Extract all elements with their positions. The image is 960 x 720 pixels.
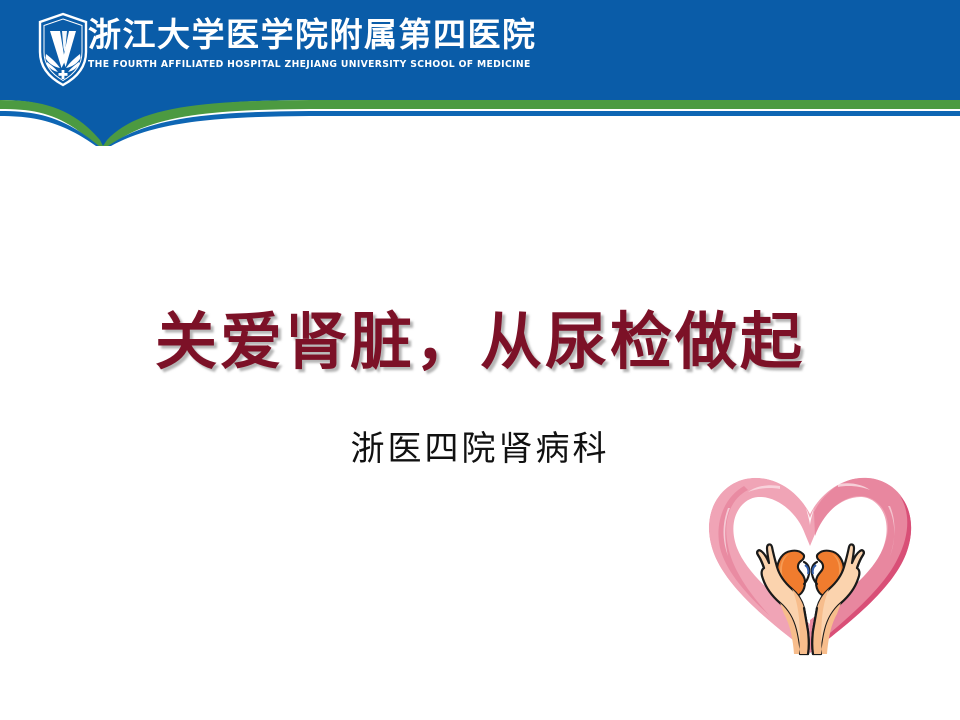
heart-hands-kidneys-illustration bbox=[688, 468, 933, 660]
hospital-name-en: THE FOURTH AFFILIATED HOSPITAL ZHEJIANG … bbox=[88, 58, 531, 72]
header-content: 浙江大学医学院附属第四医院 THE FOURTH AFFILIATED HOSP… bbox=[0, 0, 960, 100]
page-subtitle: 浙医四院肾病科 bbox=[0, 425, 960, 473]
shield-v-monogram-icon bbox=[36, 12, 90, 88]
title-block: 关爱肾脏，从尿检做起 bbox=[0, 300, 960, 384]
subtitle-block: 浙医四院肾病科 bbox=[0, 425, 960, 473]
hospital-name-cn: 浙江大学医学院附属第四医院 bbox=[88, 14, 537, 56]
header-title-group: 浙江大学医学院附属第四医院 THE FOURTH AFFILIATED HOSP… bbox=[88, 14, 537, 72]
slide-canvas: 浙江大学医学院附属第四医院 THE FOURTH AFFILIATED HOSP… bbox=[0, 0, 960, 720]
page-title: 关爱肾脏，从尿检做起 bbox=[0, 300, 960, 384]
